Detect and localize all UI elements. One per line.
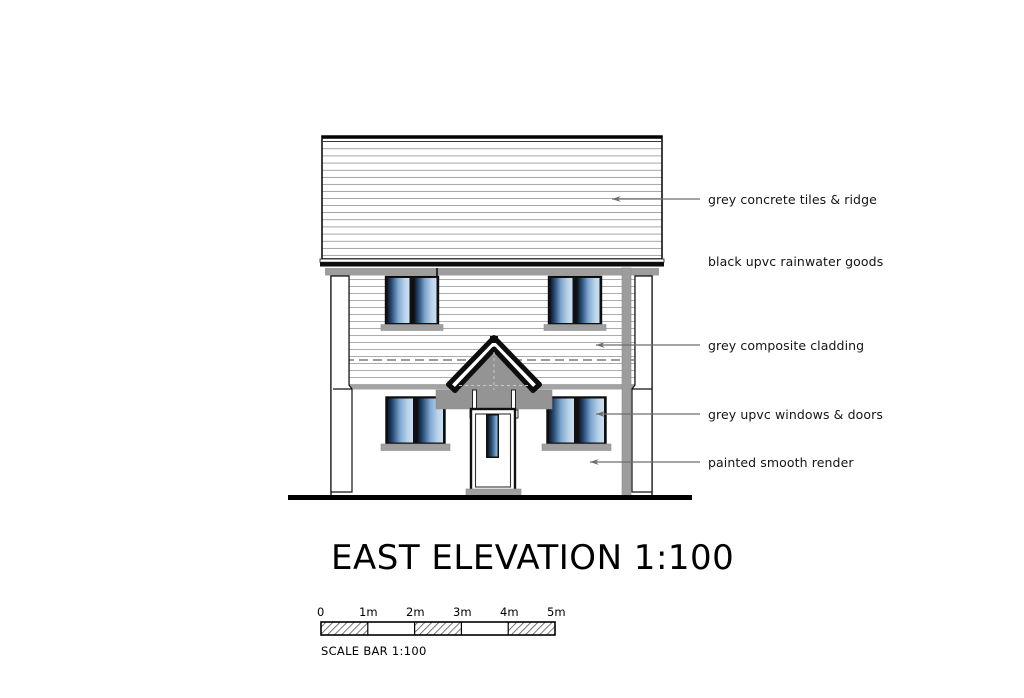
drawing-sheet: grey concrete tiles & ridge black upvc r… xyxy=(0,0,1024,698)
window-cill xyxy=(381,444,450,451)
roof-plane xyxy=(322,136,662,259)
window-upper-right xyxy=(544,277,606,331)
page-title: EAST ELEVATION 1:100 xyxy=(331,538,734,578)
window-ground-right xyxy=(542,397,611,451)
scale-bar-graphic xyxy=(321,622,555,635)
scale-tick-0: 0 xyxy=(317,605,324,619)
annotation-label-render: painted smooth render xyxy=(708,455,854,470)
scale-tick-4m: 4m xyxy=(500,605,519,619)
annotation-label-rainwater: black upvc rainwater goods xyxy=(708,254,883,269)
window-cill xyxy=(542,444,611,451)
annotation-label-cladding: grey composite cladding xyxy=(708,338,864,353)
window-upper-left xyxy=(381,277,443,331)
soffit-band xyxy=(325,268,659,276)
downpipe-right xyxy=(622,268,631,497)
scale-tick-5m: 5m xyxy=(547,605,566,619)
scale-tick-3m: 3m xyxy=(453,605,472,619)
annotation-label-windows: grey upvc windows & doors xyxy=(708,407,883,422)
door-threshold xyxy=(466,489,521,496)
window-cill xyxy=(381,325,443,331)
corner-pilaster-right xyxy=(632,276,652,492)
scale-tick-2m: 2m xyxy=(406,605,425,619)
scale-tick-1m: 1m xyxy=(359,605,378,619)
elevation-drawing xyxy=(0,0,1024,698)
entrance-door xyxy=(466,409,521,496)
annotation-label-roof: grey concrete tiles & ridge xyxy=(708,192,877,207)
window-cill xyxy=(544,325,606,331)
scale-bar-caption: SCALE BAR 1:100 xyxy=(321,644,427,658)
corner-pilaster-left xyxy=(331,276,352,492)
fascia-gutter xyxy=(320,259,664,268)
door-glass-panel xyxy=(488,416,498,457)
